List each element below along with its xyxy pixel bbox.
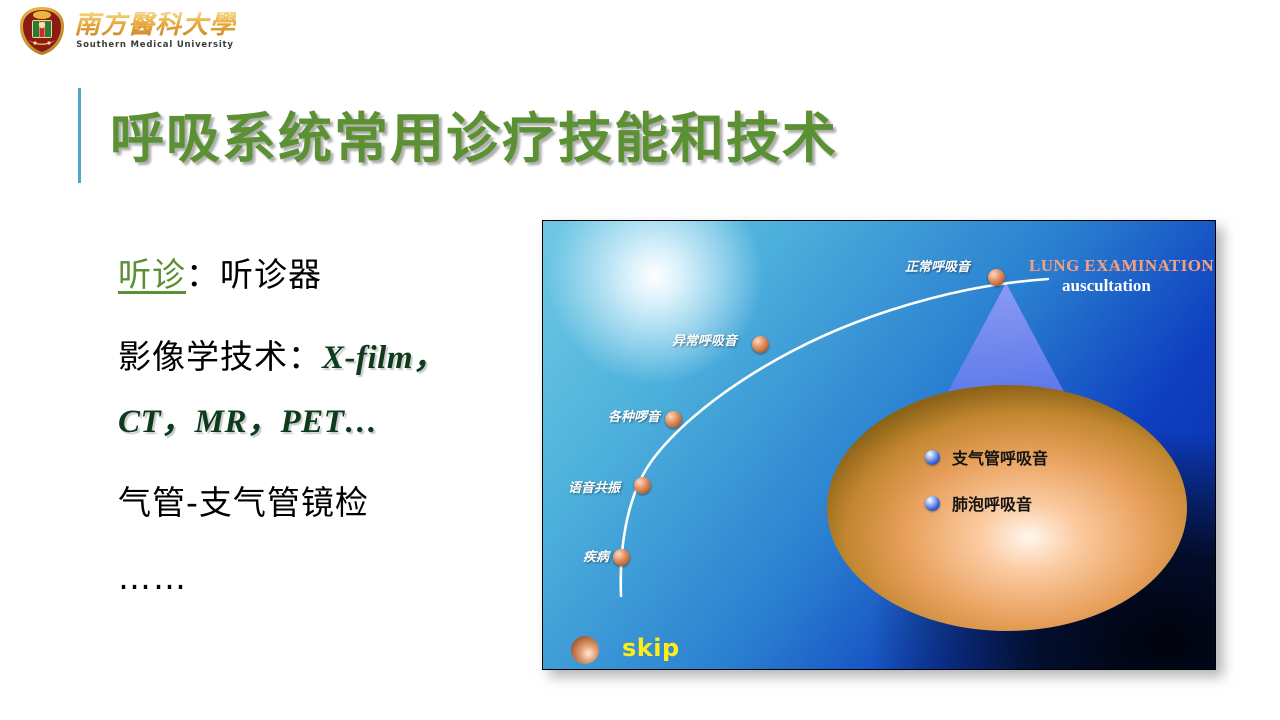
label-disease: 疾病 (583, 546, 609, 565)
node-disease[interactable] (613, 549, 630, 566)
label-vocal-resonance: 语音共振 (568, 477, 620, 496)
list-item-vesicular-breath-sound: 肺泡呼吸音 (925, 491, 1032, 515)
skip-sphere-icon[interactable] (571, 636, 599, 664)
vesicular-breath-sound-label: 肺泡呼吸音 (952, 491, 1032, 515)
page-title: 呼吸系统常用诊疗技能和技术 (110, 94, 838, 173)
list-item-bronchial-breath-sound: 支气管呼吸音 (925, 445, 1048, 469)
university-logo: 南方醫科大學 Southern Medical University (18, 6, 236, 56)
auscultation-value: 听诊器 (220, 255, 322, 294)
bronchoscopy-value: 气管-支气管镜检 (118, 483, 369, 522)
list-item-bronchoscopy: 气管-支气管镜检 (118, 476, 538, 524)
node-rales[interactable] (665, 411, 682, 428)
list-item-ellipsis: …… (118, 558, 538, 597)
label-rales: 各种啰音 (608, 406, 660, 425)
auscultation-keyword: 听诊 (118, 255, 186, 294)
slide-header: 南方醫科大學 Southern Medical University (0, 0, 1280, 62)
imaging-separator: ： (288, 337, 322, 376)
label-normal-breath-sound: 正常呼吸音 (905, 256, 970, 275)
university-name-en: Southern Medical University (76, 41, 234, 50)
ellipsis-value: …… (118, 558, 188, 597)
imaging-keyword: 影像学技术 (118, 337, 288, 376)
university-wordmark: 南方醫科大學 Southern Medical University (74, 12, 236, 50)
university-name-cn: 南方醫科大學 (74, 12, 236, 38)
list-item-imaging: 影像学技术：X-film， (118, 330, 538, 378)
node-vocal-resonance[interactable] (634, 477, 651, 494)
skip-button[interactable]: skip (622, 634, 680, 662)
picture-heading-sub: auscultation (1062, 276, 1151, 296)
label-abnormal-breath-sound: 异常呼吸音 (672, 330, 737, 349)
list-item-auscultation: 听诊：听诊器 (118, 248, 538, 296)
imaging-value-rest: CT，MR，PET… (118, 404, 378, 440)
title-accent-bar (78, 88, 81, 183)
blue-sphere-bullet-icon (925, 496, 940, 511)
content-list: 听诊：听诊器 影像学技术：X-film， CT，MR，PET… 气管-支气管镜检… (118, 248, 538, 631)
imaging-value-first: X-film， (322, 340, 447, 376)
university-crest-icon (18, 6, 66, 56)
node-abnormal-breath-sound[interactable] (752, 336, 769, 353)
list-item-imaging-cont: CT，MR，PET… (118, 394, 538, 442)
blue-sphere-bullet-icon (925, 450, 940, 465)
bronchial-breath-sound-label: 支气管呼吸音 (952, 445, 1048, 469)
auscultation-separator: ： (186, 255, 220, 294)
picture-heading-main: LUNG EXAMINATION (1029, 256, 1214, 276)
node-normal-breath-sound[interactable] (988, 269, 1005, 286)
